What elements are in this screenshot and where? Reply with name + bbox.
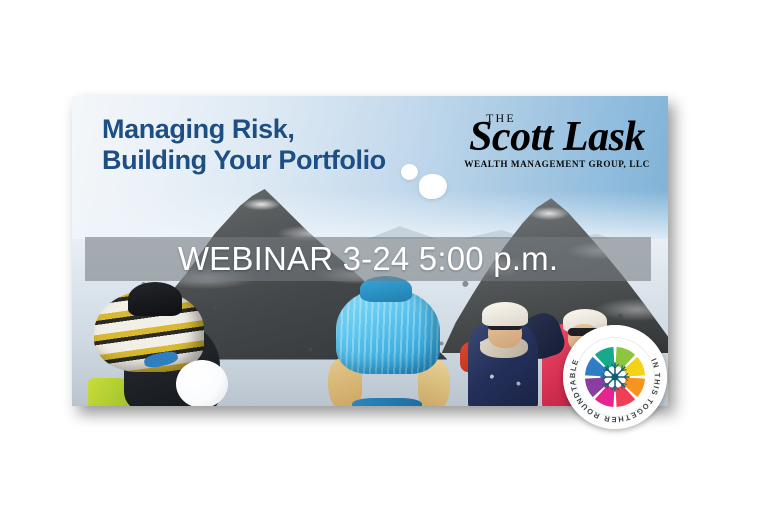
scott-lask-logo: THE Scott Lask WEALTH MANAGEMENT GROUP, … [458, 112, 656, 169]
person-striped-hat [88, 280, 238, 406]
blue-collar [352, 398, 422, 406]
held-snowball [176, 360, 228, 406]
snowflake-icon [601, 363, 629, 391]
white-hat [482, 302, 528, 326]
logo-name-text: Scott Lask [458, 118, 656, 158]
in-this-together-roundtable-badge: IN THIS TOGETHER ROUNDTABLE [563, 325, 667, 429]
logo-subtitle-text: WEALTH MANAGEMENT GROUP, LLC [458, 159, 656, 169]
person-cyan-beanie [330, 278, 446, 406]
headline-line-1: Managing Risk, [102, 114, 386, 145]
webinar-text: WEBINAR 3-24 5:00 p.m. [178, 240, 558, 278]
page-title: Managing Risk, Building Your Portfolio [102, 114, 386, 176]
page-root: Managing Risk, Building Your Portfolio T… [0, 0, 768, 512]
hat-top [128, 282, 182, 316]
headline-line-2: Building Your Portfolio [102, 145, 386, 176]
webinar-info-band: WEBINAR 3-24 5:00 p.m. [85, 237, 651, 281]
